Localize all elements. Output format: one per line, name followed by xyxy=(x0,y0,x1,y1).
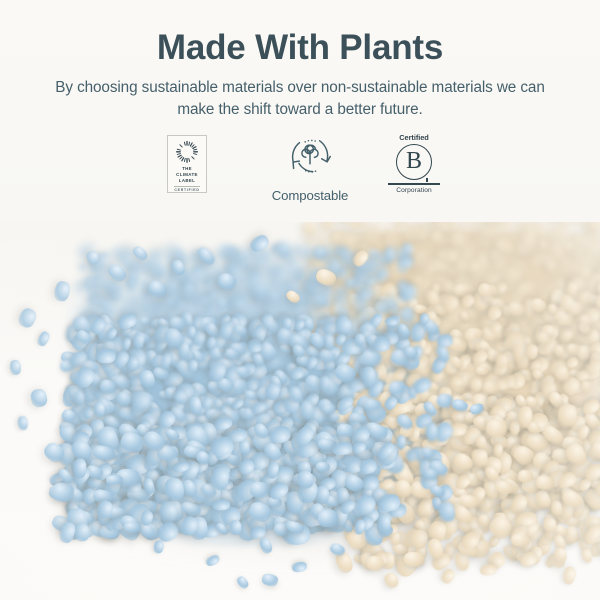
pellet xyxy=(322,403,336,414)
pellet xyxy=(123,247,132,255)
pellet xyxy=(538,239,549,250)
pellet xyxy=(362,366,375,387)
pellet xyxy=(545,259,556,272)
pellet xyxy=(73,458,87,479)
pellet xyxy=(301,222,319,238)
pellet xyxy=(152,539,165,554)
sunburst-icon xyxy=(174,140,200,164)
page-title: Made With Plants xyxy=(0,28,600,67)
pellet xyxy=(29,388,48,409)
pellet xyxy=(554,224,569,237)
pellet-layer xyxy=(0,222,600,600)
pellet xyxy=(111,247,124,259)
page-subtitle: By choosing sustainable materials over n… xyxy=(50,77,550,120)
pellet xyxy=(106,474,123,484)
pellet xyxy=(388,380,405,395)
pellet xyxy=(469,377,483,392)
pellet xyxy=(230,520,242,536)
pellet xyxy=(373,225,381,236)
pellet xyxy=(332,293,348,305)
pellet xyxy=(124,521,142,533)
bcorp-b-letter: B xyxy=(406,149,422,173)
pellet xyxy=(425,422,437,441)
pellet xyxy=(205,554,221,568)
pellet xyxy=(36,330,52,348)
pellet xyxy=(261,572,279,587)
pellet xyxy=(592,239,600,247)
pellet xyxy=(53,280,72,303)
climate-label-certified: CERTIFIED xyxy=(174,188,199,192)
pellet xyxy=(558,405,577,427)
pellet xyxy=(212,499,230,511)
pellet xyxy=(550,500,563,516)
certification-badge-row: THE CLIMATE LABEL CERTIFIED xyxy=(0,131,600,215)
climate-label-line3: LABEL xyxy=(179,178,195,184)
pellet xyxy=(74,523,89,541)
pellet xyxy=(548,241,566,259)
bcorp-circle-icon: B xyxy=(396,144,432,180)
pellet xyxy=(186,359,199,374)
pellet xyxy=(248,341,262,353)
climate-label-divider xyxy=(174,186,200,187)
pellet xyxy=(286,264,303,279)
pellet xyxy=(320,376,331,392)
pellet xyxy=(187,326,196,339)
bcorp-stem-icon xyxy=(426,178,428,182)
pellet xyxy=(374,337,390,352)
pellet xyxy=(258,536,274,555)
pellet xyxy=(96,348,116,364)
badge-b-corporation[interactable]: Certified B Corporation xyxy=(386,134,442,194)
pellet xyxy=(16,306,39,330)
pellet xyxy=(291,561,307,573)
pellet xyxy=(383,571,401,590)
compostable-label: Compostable xyxy=(258,188,362,203)
pellet xyxy=(17,416,28,430)
badge-climate-label[interactable]: THE CLIMATE LABEL CERTIFIED xyxy=(167,135,207,193)
pellet xyxy=(235,575,251,591)
pellet xyxy=(191,266,204,276)
pellet xyxy=(403,551,425,568)
pellet xyxy=(397,280,408,290)
pellet xyxy=(480,563,498,576)
header-section: Made With Plants By choosing sustainable… xyxy=(0,0,600,222)
pellet xyxy=(165,280,177,295)
pellet xyxy=(73,390,85,406)
pellet xyxy=(345,278,354,289)
pellet xyxy=(354,334,365,348)
pellet xyxy=(128,293,142,306)
pellet xyxy=(9,360,21,376)
product-photo xyxy=(0,222,600,600)
pellet xyxy=(94,402,105,417)
compostable-recycle-clover-icon xyxy=(282,133,338,179)
bcorp-corporation-text: Corporation xyxy=(386,187,442,194)
bcorp-certified-text: Certified xyxy=(386,134,442,141)
poster-canvas: Made With Plants By choosing sustainable… xyxy=(0,0,600,600)
pellet xyxy=(561,565,577,586)
pellet xyxy=(521,283,537,295)
badge-compostable[interactable]: Compostable xyxy=(258,133,362,203)
bcorp-divider xyxy=(388,183,440,185)
